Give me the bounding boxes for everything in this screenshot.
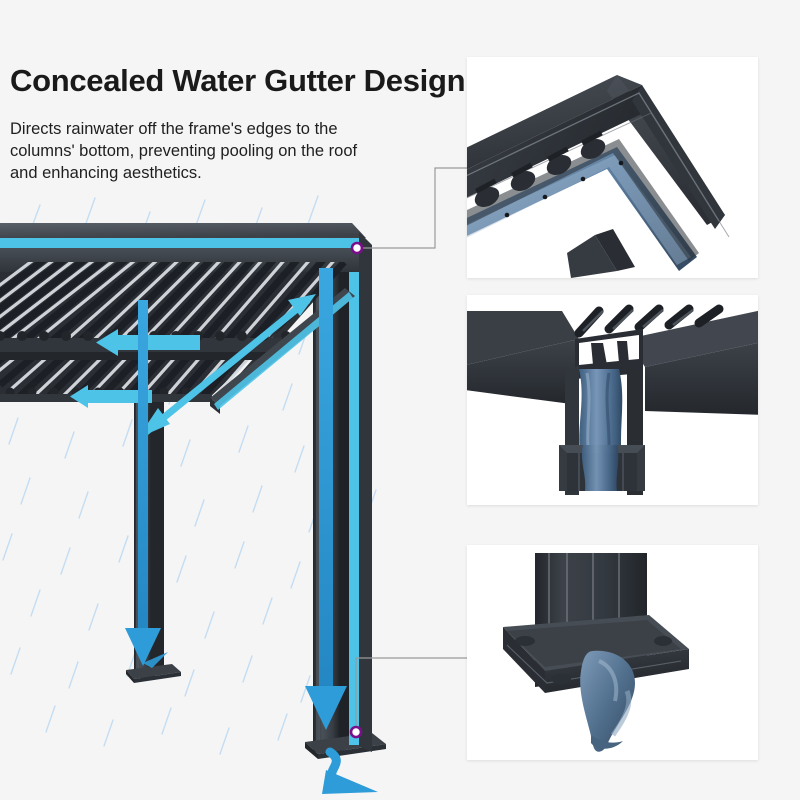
flow-arrow-roof-upper	[96, 329, 200, 356]
column-left	[126, 393, 181, 683]
column-right	[305, 251, 386, 759]
louver-slats	[0, 240, 348, 408]
page-description: Directs rainwater off the frame's edges …	[10, 118, 370, 184]
flow-arrow-roof-diagonal	[138, 294, 316, 438]
callout-dot-roof-corner[interactable]	[352, 243, 362, 253]
detail-panel-column-downspout[interactable]	[467, 295, 758, 505]
flow-arrow-column-left	[125, 300, 168, 668]
flow-arrow-base-outflow	[322, 752, 378, 794]
roof-corner-gutter-photo	[467, 57, 758, 278]
flow-arrow-column-right	[305, 268, 347, 730]
rain-layer	[0, 196, 376, 754]
connector-line-panel-3	[356, 658, 467, 732]
column-downspout-photo	[467, 295, 758, 505]
detail-panel-roof-corner[interactable]	[467, 57, 758, 278]
illustration-stage: Concealed Water Gutter Design Directs ra…	[0, 0, 800, 800]
detail-panel-column-base-outlet[interactable]	[467, 545, 758, 760]
callout-dot-column-base[interactable]	[351, 727, 361, 737]
pergola-roof	[0, 223, 372, 752]
connector-line-panel-1	[357, 168, 467, 248]
page-title: Concealed Water Gutter Design	[10, 63, 465, 99]
flow-arrow-roof-lower	[70, 385, 152, 408]
column-base-outlet-photo	[467, 545, 758, 760]
